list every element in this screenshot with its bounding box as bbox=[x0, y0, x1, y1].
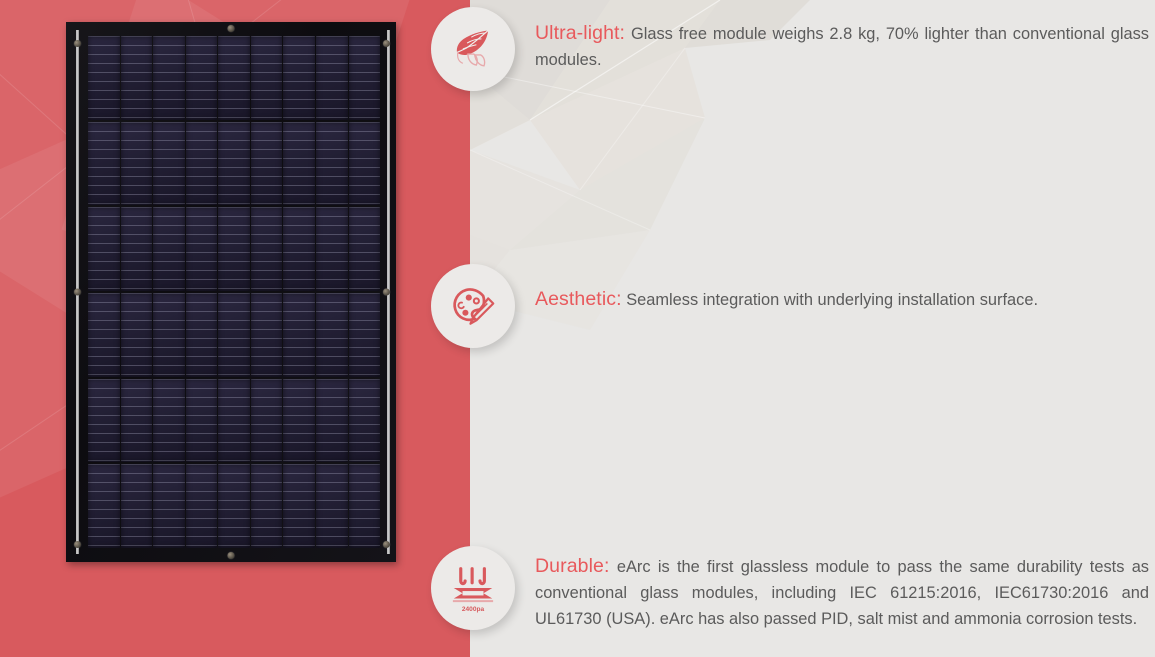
feature-icon-badge-aesthetic bbox=[431, 264, 515, 348]
feature-text-ultra-light: Ultra-light: Glass free module weighs 2.… bbox=[535, 20, 1149, 73]
palette-brush-icon bbox=[446, 279, 500, 333]
solar-cell bbox=[186, 293, 218, 377]
feature-text-durable: Durable: eArc is the first glassless mod… bbox=[535, 553, 1149, 632]
solar-cell bbox=[251, 36, 283, 120]
solar-cell-grid bbox=[88, 36, 380, 548]
solar-cell bbox=[218, 207, 250, 291]
product-feature-slide: Ultra-light: Glass free module weighs 2.… bbox=[0, 0, 1155, 657]
solar-cell bbox=[153, 36, 185, 120]
solar-cell bbox=[283, 122, 315, 206]
cell-column bbox=[121, 36, 153, 548]
solar-cell bbox=[218, 293, 250, 377]
solar-cell bbox=[349, 207, 381, 291]
load-pressure-icon: 2400pa bbox=[445, 560, 501, 616]
feature-lead-durable: Durable: bbox=[535, 555, 610, 577]
solar-cell bbox=[121, 36, 153, 120]
solar-cell bbox=[121, 464, 153, 548]
solar-cell bbox=[153, 122, 185, 206]
feature-text-aesthetic: Aesthetic: Seamless integration with und… bbox=[535, 286, 1149, 313]
mounting-grommet bbox=[383, 40, 390, 47]
mounting-grommet bbox=[228, 25, 235, 32]
solar-cell bbox=[316, 293, 348, 377]
solar-cell bbox=[349, 379, 381, 463]
mounting-grommet bbox=[74, 289, 81, 296]
solar-cell bbox=[186, 464, 218, 548]
feature-body-ultra-light: Glass free module weighs 2.8 kg, 70% lig… bbox=[535, 25, 1149, 69]
solar-cell bbox=[88, 207, 120, 291]
solar-cell bbox=[88, 293, 120, 377]
mounting-grommet bbox=[74, 40, 81, 47]
solar-cell bbox=[153, 379, 185, 463]
solar-cell bbox=[218, 122, 250, 206]
mounting-grommet bbox=[74, 541, 81, 548]
solar-cell bbox=[283, 293, 315, 377]
solar-cell bbox=[349, 36, 381, 120]
solar-cell bbox=[218, 36, 250, 120]
mounting-grommet bbox=[383, 289, 390, 296]
solar-cell bbox=[316, 122, 348, 206]
solar-cell bbox=[251, 464, 283, 548]
feather-icon bbox=[446, 22, 500, 76]
solar-cell bbox=[153, 207, 185, 291]
feature-body-durable: eArc is the first glassless module to pa… bbox=[535, 558, 1149, 628]
mounting-grommet bbox=[383, 541, 390, 548]
solar-cell bbox=[251, 293, 283, 377]
solar-cell bbox=[349, 293, 381, 377]
solar-cell bbox=[316, 464, 348, 548]
feature-body-aesthetic: Seamless integration with underlying ins… bbox=[626, 291, 1038, 309]
solar-cell bbox=[121, 122, 153, 206]
solar-cell bbox=[186, 36, 218, 120]
solar-cell bbox=[283, 464, 315, 548]
solar-cell bbox=[251, 379, 283, 463]
solar-cell bbox=[283, 207, 315, 291]
solar-cell bbox=[153, 293, 185, 377]
solar-cell bbox=[121, 207, 153, 291]
solar-cell bbox=[88, 379, 120, 463]
solar-cell bbox=[283, 379, 315, 463]
feature-lead-aesthetic: Aesthetic: bbox=[535, 288, 622, 310]
solar-cell bbox=[251, 207, 283, 291]
cell-column bbox=[153, 36, 185, 548]
solar-cell bbox=[153, 464, 185, 548]
solar-cell bbox=[251, 122, 283, 206]
solar-cell bbox=[218, 464, 250, 548]
cell-column bbox=[316, 36, 348, 548]
feature-icon-badge-durable: 2400pa bbox=[431, 546, 515, 630]
cell-column bbox=[283, 36, 315, 548]
solar-cell bbox=[316, 36, 348, 120]
solar-cell bbox=[186, 122, 218, 206]
feature-lead-ultra-light: Ultra-light: bbox=[535, 22, 625, 44]
solar-cell bbox=[121, 379, 153, 463]
solar-cell bbox=[186, 379, 218, 463]
pressure-value-label: 2400pa bbox=[462, 606, 485, 613]
solar-cell bbox=[186, 207, 218, 291]
solar-cell bbox=[88, 464, 120, 548]
solar-panel-photo bbox=[66, 22, 396, 562]
solar-cell bbox=[88, 36, 120, 120]
cell-column bbox=[186, 36, 218, 548]
solar-cell bbox=[316, 207, 348, 291]
cell-column bbox=[349, 36, 381, 548]
solar-cell bbox=[218, 379, 250, 463]
solar-cell bbox=[88, 122, 120, 206]
cell-column bbox=[88, 36, 120, 548]
cell-column bbox=[251, 36, 283, 548]
solar-cell bbox=[349, 464, 381, 548]
cell-column bbox=[218, 36, 250, 548]
feature-icon-badge-ultra-light bbox=[431, 7, 515, 91]
solar-cell bbox=[121, 293, 153, 377]
mounting-grommet bbox=[228, 552, 235, 559]
solar-cell bbox=[349, 122, 381, 206]
solar-cell bbox=[283, 36, 315, 120]
solar-cell bbox=[316, 379, 348, 463]
